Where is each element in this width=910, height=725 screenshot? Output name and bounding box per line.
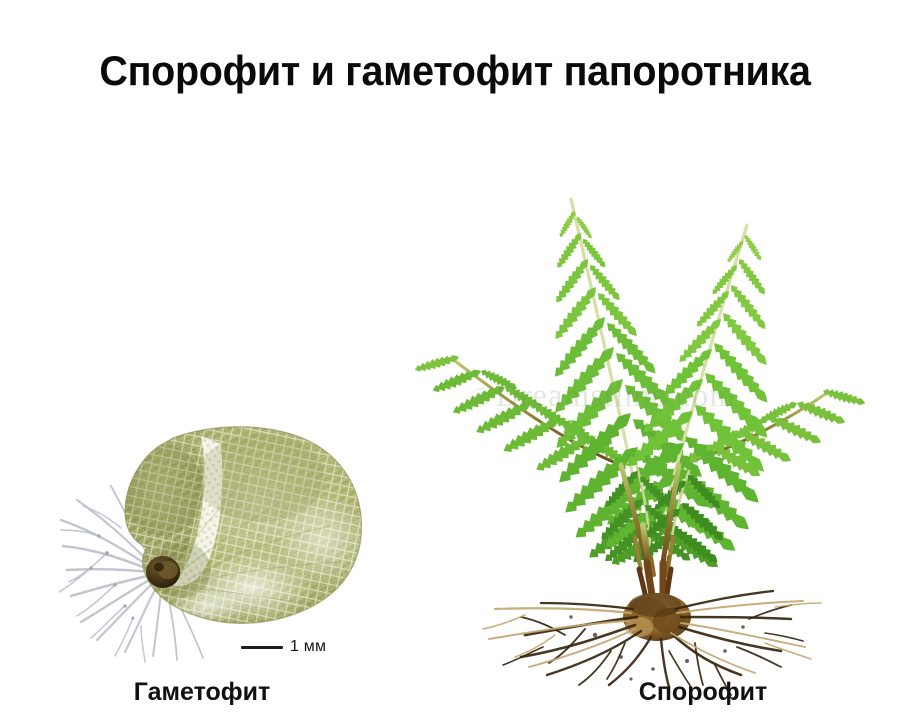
caption-gametophyte: Гаметофит [42, 678, 362, 706]
sporophyte-illustration [425, 165, 865, 665]
scale-bar-line [241, 646, 283, 649]
gametophyte-figure [55, 420, 395, 670]
scale-bar-label: 1 мм [290, 638, 326, 656]
archegonium-spot [146, 556, 180, 588]
slide-canvas: Спорофит и гаметофит папоротника [0, 0, 910, 725]
sporophyte-figure [425, 165, 865, 665]
page-title: Спорофит и гаметофит папоротника [27, 46, 882, 96]
gametophyte-illustration [55, 420, 395, 670]
frond-left-small [413, 352, 631, 476]
scale-bar: 1 мм [241, 638, 326, 656]
frond-right-small [670, 386, 867, 482]
gametophyte-thallus [55, 420, 395, 670]
caption-sporophyte: Спорофит [553, 678, 853, 706]
